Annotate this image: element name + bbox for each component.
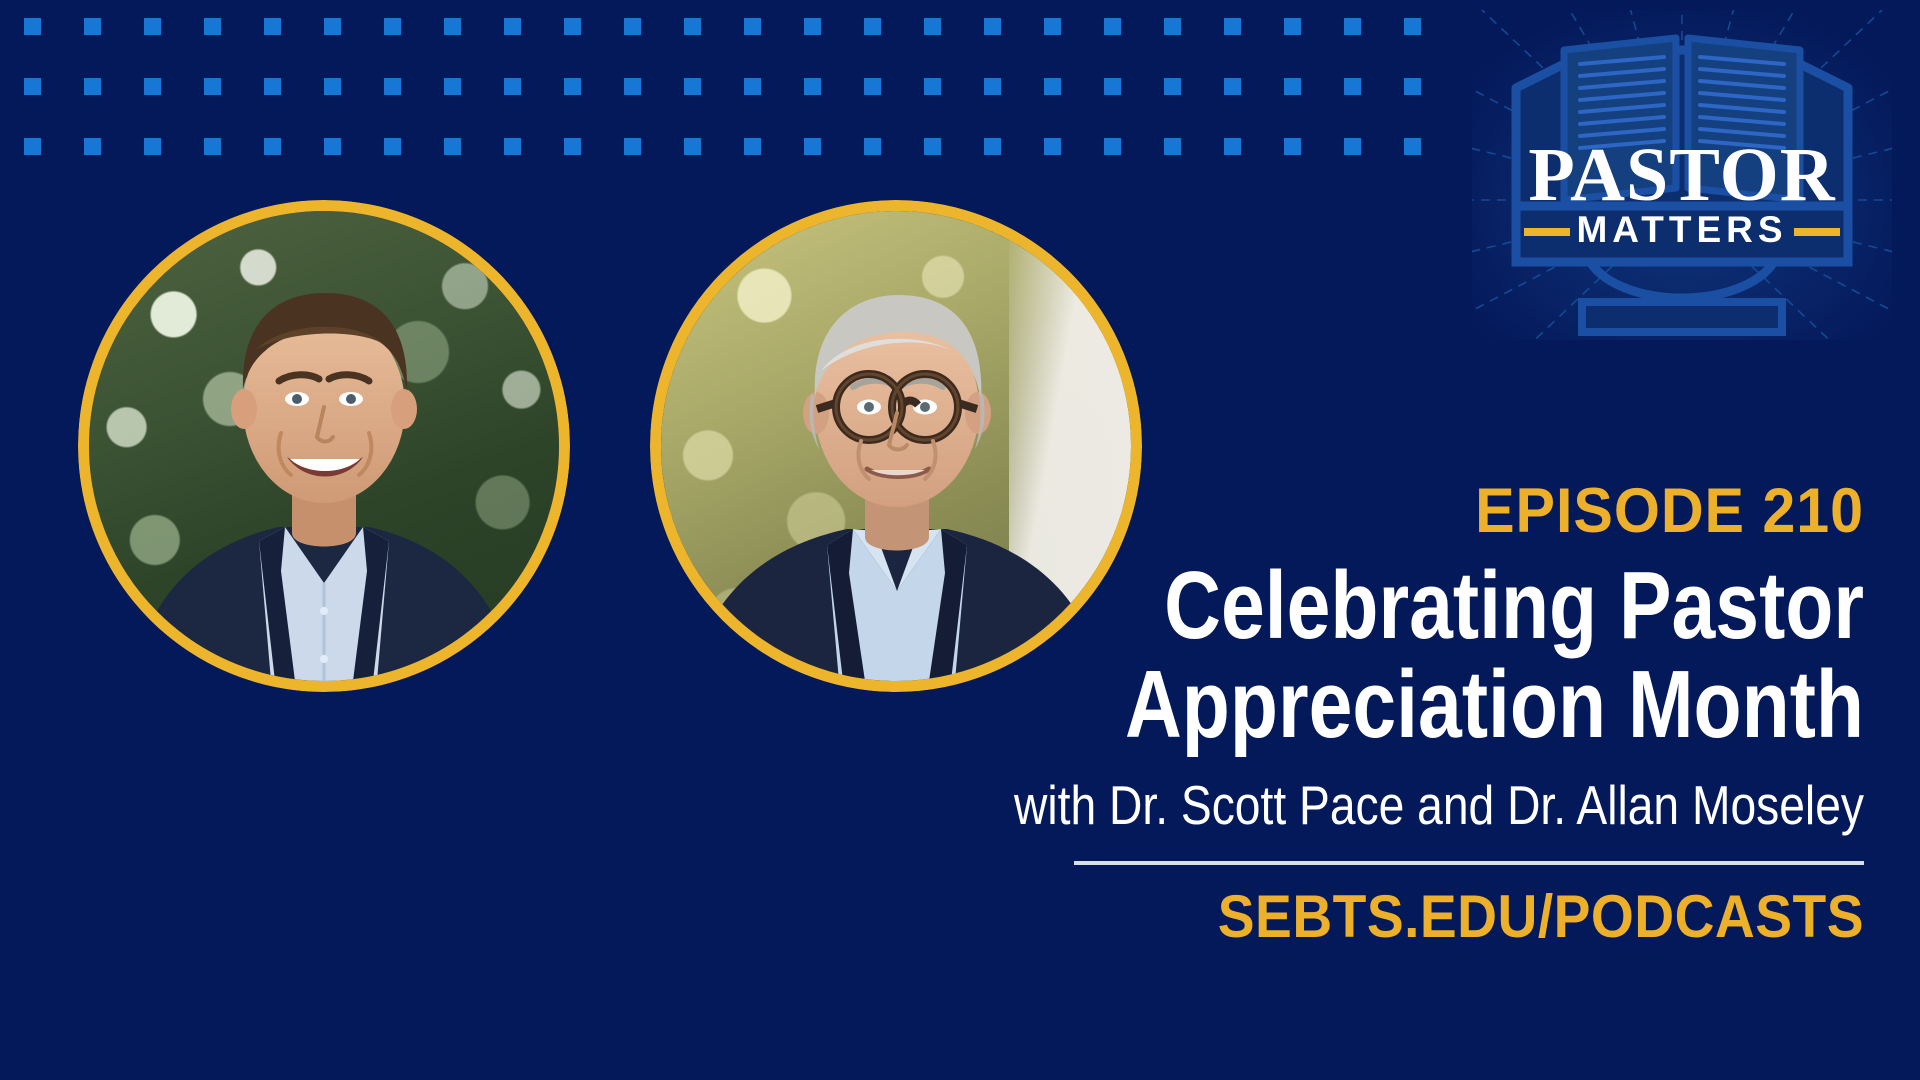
grid-dot bbox=[984, 78, 1001, 95]
grid-dot bbox=[144, 138, 161, 155]
grid-dot bbox=[924, 78, 941, 95]
grid-dot bbox=[1044, 18, 1061, 35]
grid-dot bbox=[1104, 78, 1121, 95]
grid-dot bbox=[24, 78, 41, 95]
grid-dot bbox=[804, 18, 821, 35]
grid-dot bbox=[864, 78, 881, 95]
grid-dot bbox=[1164, 18, 1181, 35]
grid-dot bbox=[204, 18, 221, 35]
grid-dot bbox=[564, 78, 581, 95]
grid-dot bbox=[444, 78, 461, 95]
grid-dot bbox=[264, 78, 281, 95]
grid-dot bbox=[984, 138, 1001, 155]
grid-dot bbox=[444, 138, 461, 155]
grid-dot bbox=[684, 138, 701, 155]
grid-dot bbox=[1344, 18, 1361, 35]
logo-dash-left bbox=[1524, 228, 1570, 236]
grid-dot bbox=[84, 138, 101, 155]
grid-dot bbox=[1284, 78, 1301, 95]
grid-dot bbox=[384, 78, 401, 95]
grid-dot bbox=[324, 18, 341, 35]
logo-dash-right bbox=[1794, 228, 1840, 236]
grid-dot bbox=[24, 138, 41, 155]
grid-dot bbox=[684, 18, 701, 35]
grid-dot bbox=[1344, 78, 1361, 95]
grid-dot bbox=[1104, 18, 1121, 35]
grid-dot bbox=[1344, 138, 1361, 155]
grid-dot bbox=[624, 18, 641, 35]
grid-dot bbox=[384, 18, 401, 35]
grid-dot bbox=[744, 78, 761, 95]
grid-dot bbox=[1164, 138, 1181, 155]
grid-dot bbox=[924, 138, 941, 155]
grid-dot bbox=[804, 78, 821, 95]
grid-dot bbox=[984, 18, 1001, 35]
grid-dot bbox=[624, 138, 641, 155]
portrait-photo bbox=[661, 211, 1131, 681]
grid-dot bbox=[1044, 138, 1061, 155]
grid-dot bbox=[384, 138, 401, 155]
grid-dot bbox=[504, 78, 521, 95]
grid-dot bbox=[204, 138, 221, 155]
grid-dot bbox=[1164, 78, 1181, 95]
grid-dot bbox=[744, 138, 761, 155]
portrait-photo bbox=[89, 211, 559, 681]
podcast-url: SEBTS.EDU/PODCASTS bbox=[889, 887, 1864, 947]
grid-dot bbox=[564, 18, 581, 35]
grid-dot bbox=[804, 138, 821, 155]
grid-dot bbox=[1284, 138, 1301, 155]
logo-matters-text: MATTERS bbox=[1576, 209, 1787, 250]
grid-dot bbox=[1404, 18, 1421, 35]
episode-hosts-byline: with Dr. Scott Pace and Dr. Allan Mosele… bbox=[974, 775, 1864, 836]
grid-dot bbox=[1404, 78, 1421, 95]
grid-dot bbox=[624, 78, 641, 95]
grid-dot bbox=[1224, 138, 1241, 155]
grid-dot bbox=[1104, 138, 1121, 155]
grid-dot bbox=[324, 78, 341, 95]
grid-dot bbox=[864, 138, 881, 155]
grid-dot bbox=[684, 78, 701, 95]
pastor-matters-logo: PASTOR MATTERS bbox=[1472, 10, 1892, 340]
divider-rule bbox=[1074, 861, 1864, 865]
grid-dot bbox=[1284, 18, 1301, 35]
grid-dot bbox=[564, 138, 581, 155]
grid-dot bbox=[444, 18, 461, 35]
grid-dot bbox=[1224, 78, 1241, 95]
podcast-episode-graphic: PASTOR MATTERS bbox=[0, 0, 1920, 1080]
logo-pastor-text: PASTOR bbox=[1528, 133, 1835, 217]
grid-dot bbox=[144, 78, 161, 95]
dot-grid-decoration bbox=[0, 0, 1460, 140]
grid-dot bbox=[264, 18, 281, 35]
grid-dot bbox=[144, 18, 161, 35]
grid-dot bbox=[1404, 138, 1421, 155]
grid-dot bbox=[744, 18, 761, 35]
grid-dot bbox=[324, 138, 341, 155]
grid-dot bbox=[504, 138, 521, 155]
portrait-allan-moseley bbox=[650, 200, 1142, 692]
grid-dot bbox=[84, 78, 101, 95]
grid-dot bbox=[204, 78, 221, 95]
portrait-scott-pace bbox=[78, 200, 570, 692]
grid-dot bbox=[864, 18, 881, 35]
grid-dot bbox=[504, 18, 521, 35]
grid-dot bbox=[84, 18, 101, 35]
grid-dot bbox=[1224, 18, 1241, 35]
grid-dot bbox=[1044, 78, 1061, 95]
grid-dot bbox=[924, 18, 941, 35]
grid-dot bbox=[24, 18, 41, 35]
grid-dot bbox=[264, 138, 281, 155]
